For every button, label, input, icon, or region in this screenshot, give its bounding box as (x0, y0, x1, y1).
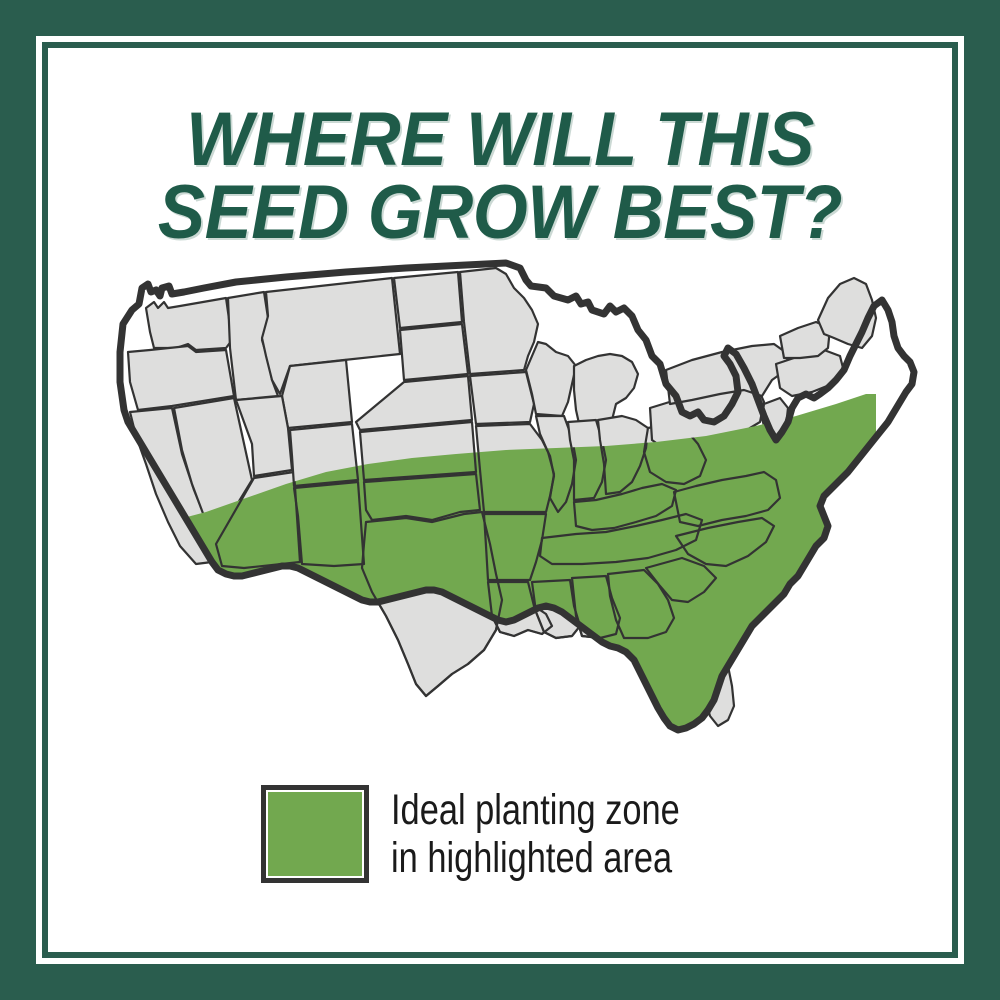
poster-root: WHERE WILL THIS SEED GROW BEST? (0, 0, 1000, 1000)
page-title: WHERE WILL THIS SEED GROW BEST? (48, 103, 952, 249)
content-panel: WHERE WILL THIS SEED GROW BEST? (48, 48, 952, 952)
legend-label-line-1: Ideal planting zone (391, 786, 680, 834)
legend-swatch-fill (268, 792, 362, 876)
legend-label-line-2: in highlighted area (391, 834, 680, 882)
legend-swatch-inner-border (266, 790, 364, 878)
legend-swatch (261, 785, 369, 883)
legend: Ideal planting zone in highlighted area (261, 785, 752, 883)
legend-label: Ideal planting zone in highlighted area (391, 786, 680, 882)
title-line-1: WHERE WILL THIS (80, 103, 921, 176)
us-map (76, 244, 924, 744)
title-line-2: SEED GROW BEST? (80, 176, 921, 249)
